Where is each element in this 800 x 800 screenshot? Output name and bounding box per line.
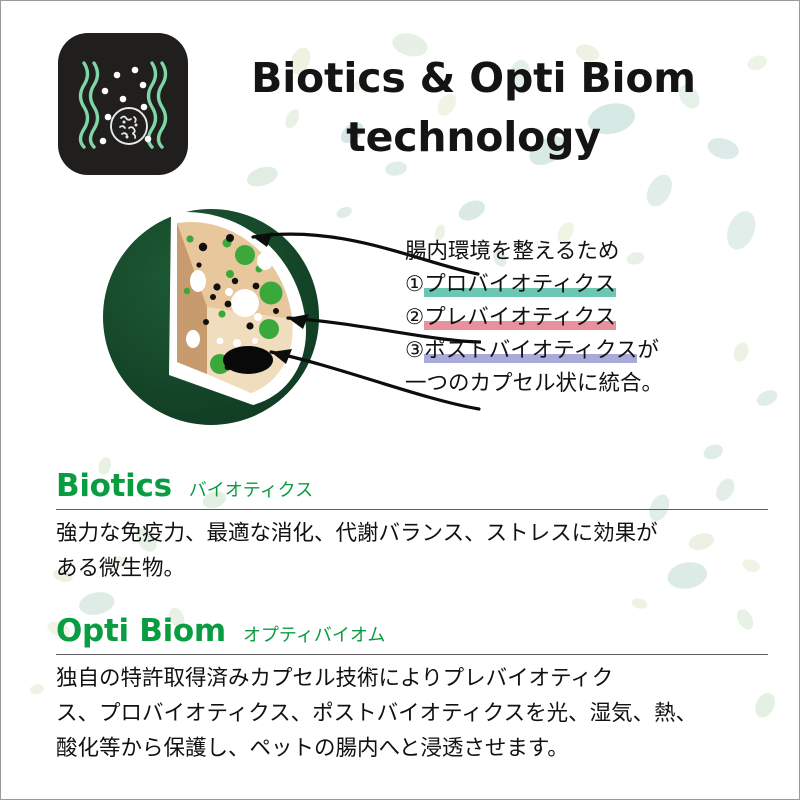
- callout-item-1: ①プロバイオティクス: [405, 268, 795, 301]
- section-opti-biom-heading: Opti Biom オプティバイオム: [56, 616, 768, 651]
- section-opti-biom-body: 独自の特許取得済みカプセル技術によりプレバイオティク ス、プロバイオティクス、ポ…: [56, 655, 768, 765]
- section-biotics-kana: バイオティクス: [189, 481, 313, 499]
- section-biotics-heading: Biotics バイオティクス: [56, 471, 768, 506]
- callout-label-1: プロバイオティクス: [424, 272, 616, 297]
- callout-label-2: プレバイオティクス: [424, 305, 616, 330]
- callout-suffix-3: が: [637, 338, 659, 362]
- section-opti-biom: Opti Biom オプティバイオム 独自の特許取得済みカプセル技術によりプレバ…: [56, 616, 768, 765]
- microbiome-app-icon: [58, 33, 188, 175]
- callout-item-3: ③ポストバイオティクスが: [405, 334, 795, 367]
- callout-closing: 一つのカプセル状に統合。: [405, 367, 795, 400]
- section-opti-biom-kana: オプティバイオム: [243, 626, 385, 644]
- section-biotics-title: Biotics: [56, 471, 172, 502]
- callout-marker-3: ③: [405, 338, 424, 362]
- section-opti-biom-title: Opti Biom: [56, 616, 226, 647]
- infographic-page: Biotics & Opti Biom technology: [0, 0, 800, 800]
- capsule-diagram: 腸内環境を整えるため ①プロバイオティクス ②プレバイオティクス ③ポストバイオ…: [1, 199, 800, 461]
- callout-label-3: ポストバイオティクス: [424, 338, 637, 363]
- callout-marker-2: ②: [405, 305, 424, 329]
- callout-marker-1: ①: [405, 272, 424, 296]
- section-biotics-body: 強力な免疫力、最適な消化、代謝バランス、ストレスに効果が ある微生物。: [56, 510, 768, 586]
- callout-intro: 腸内環境を整えるため: [405, 235, 795, 268]
- callout-item-2: ②プレバイオティクス: [405, 301, 795, 334]
- title-line-1: Biotics & Opti Biom: [201, 49, 746, 108]
- title-line-2: technology: [201, 108, 746, 167]
- petri-dish-icon: [111, 108, 147, 144]
- callout-text-block: 腸内環境を整えるため ①プロバイオティクス ②プレバイオティクス ③ポストバイオ…: [405, 235, 795, 400]
- header: Biotics & Opti Biom technology: [1, 1, 800, 191]
- page-title: Biotics & Opti Biom technology: [201, 49, 746, 168]
- section-biotics: Biotics バイオティクス 強力な免疫力、最適な消化、代謝バランス、ストレス…: [56, 471, 768, 586]
